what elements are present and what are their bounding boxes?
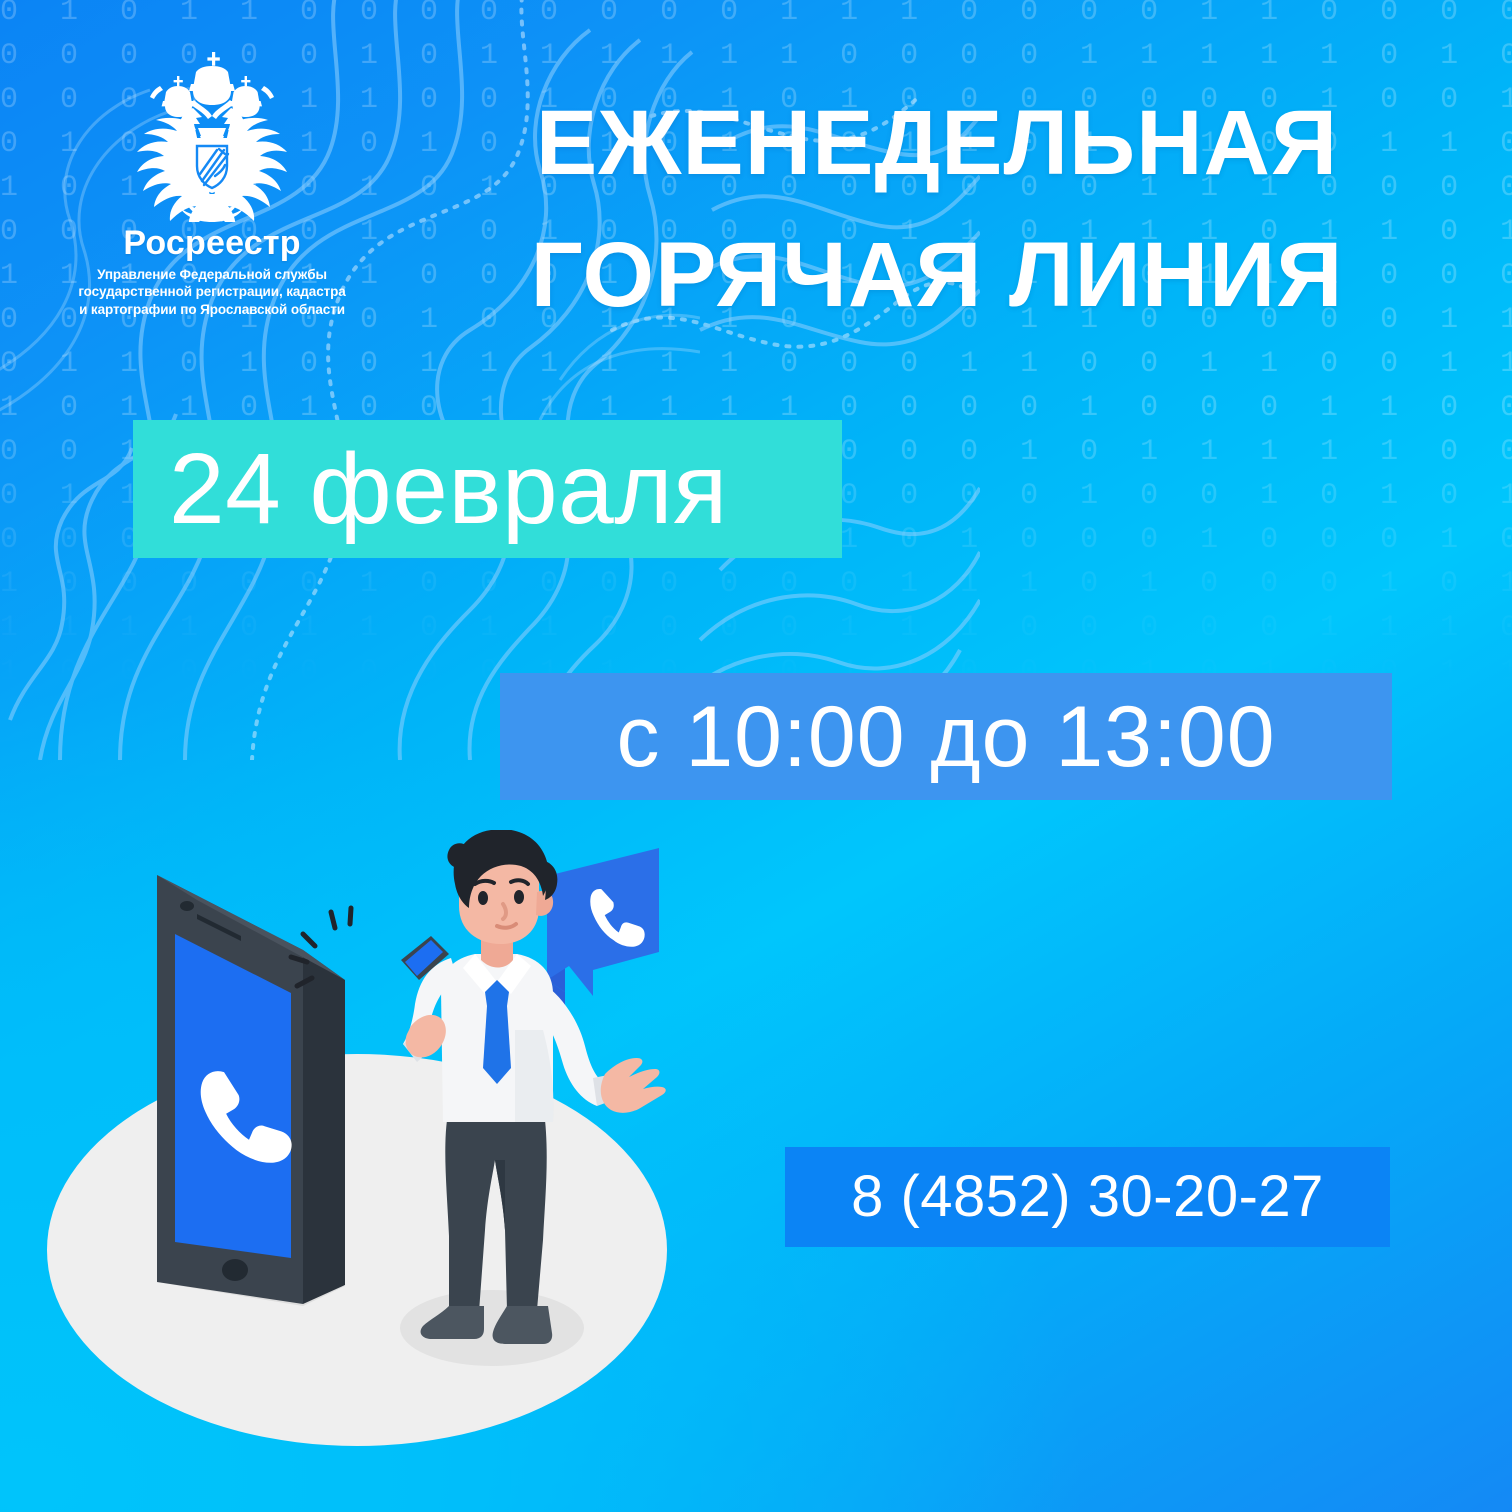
date-badge: 24 февраля bbox=[133, 420, 842, 558]
page-title-line-1: ЕЖЕНЕДЕЛЬНАЯ bbox=[408, 78, 1466, 210]
logo-subtitle-line-1: Управление Федеральной службы bbox=[62, 266, 362, 283]
hand-left bbox=[406, 1015, 446, 1058]
page-title: ЕЖЕНЕДЕЛЬНАЯ ГОРЯЧАЯ ЛИНИЯ bbox=[408, 78, 1466, 341]
date-badge-label: 24 февраля bbox=[133, 439, 728, 539]
eye-right bbox=[514, 890, 524, 904]
logo-subtitle: Управление Федеральной службы государств… bbox=[62, 266, 362, 318]
tie bbox=[483, 1006, 511, 1084]
logo-subtitle-line-3: и картографии по Ярославской области bbox=[62, 301, 362, 318]
poster-canvas: 0 1 0 1 1 0 0 0 0 0 0 0 0 1 1 1 0 0 0 0 … bbox=[0, 0, 1512, 1512]
double-headed-eagle-emblem-icon bbox=[120, 46, 304, 222]
logo-subtitle-line-2: государственной регистрации, кадастра bbox=[62, 283, 362, 300]
logo-title: Росреестр bbox=[62, 226, 362, 260]
smartphone-device bbox=[157, 875, 345, 1306]
hotline-illustration bbox=[45, 830, 745, 1460]
speech-bubble-phone-icon bbox=[547, 848, 659, 1016]
hand-right bbox=[601, 1058, 666, 1113]
phone-number-badge[interactable]: 8 (4852) 30-20-27 bbox=[785, 1147, 1390, 1247]
phone-number-label: 8 (4852) 30-20-27 bbox=[851, 1168, 1324, 1226]
time-badge-label: с 10:00 до 13:00 bbox=[616, 694, 1275, 780]
time-badge: с 10:00 до 13:00 bbox=[500, 673, 1392, 800]
page-title-line-2: ГОРЯЧАЯ ЛИНИЯ bbox=[408, 210, 1466, 342]
floor-ellipse bbox=[47, 1054, 667, 1446]
eye-left bbox=[478, 891, 488, 905]
rosreestr-logo: Росреестр Управление Федеральной службы … bbox=[62, 46, 362, 318]
